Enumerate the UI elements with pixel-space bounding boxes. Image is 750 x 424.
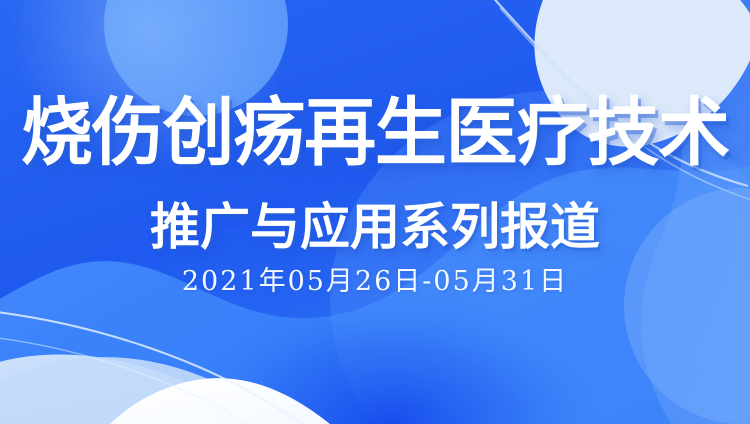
- date-range-label: 2021年05月26日-05月31日: [0, 268, 750, 295]
- promo-banner: 烧伤创疡再生医疗技术 推广与应用系列报道 2021年05月26日-05月31日: [0, 0, 750, 424]
- page-title: 烧伤创疡再生医疗技术: [11, 96, 739, 170]
- banner-text-layer: 烧伤创疡再生医疗技术 推广与应用系列报道 2021年05月26日-05月31日: [0, 0, 750, 424]
- page-subtitle: 推广与应用系列报道: [0, 202, 750, 252]
